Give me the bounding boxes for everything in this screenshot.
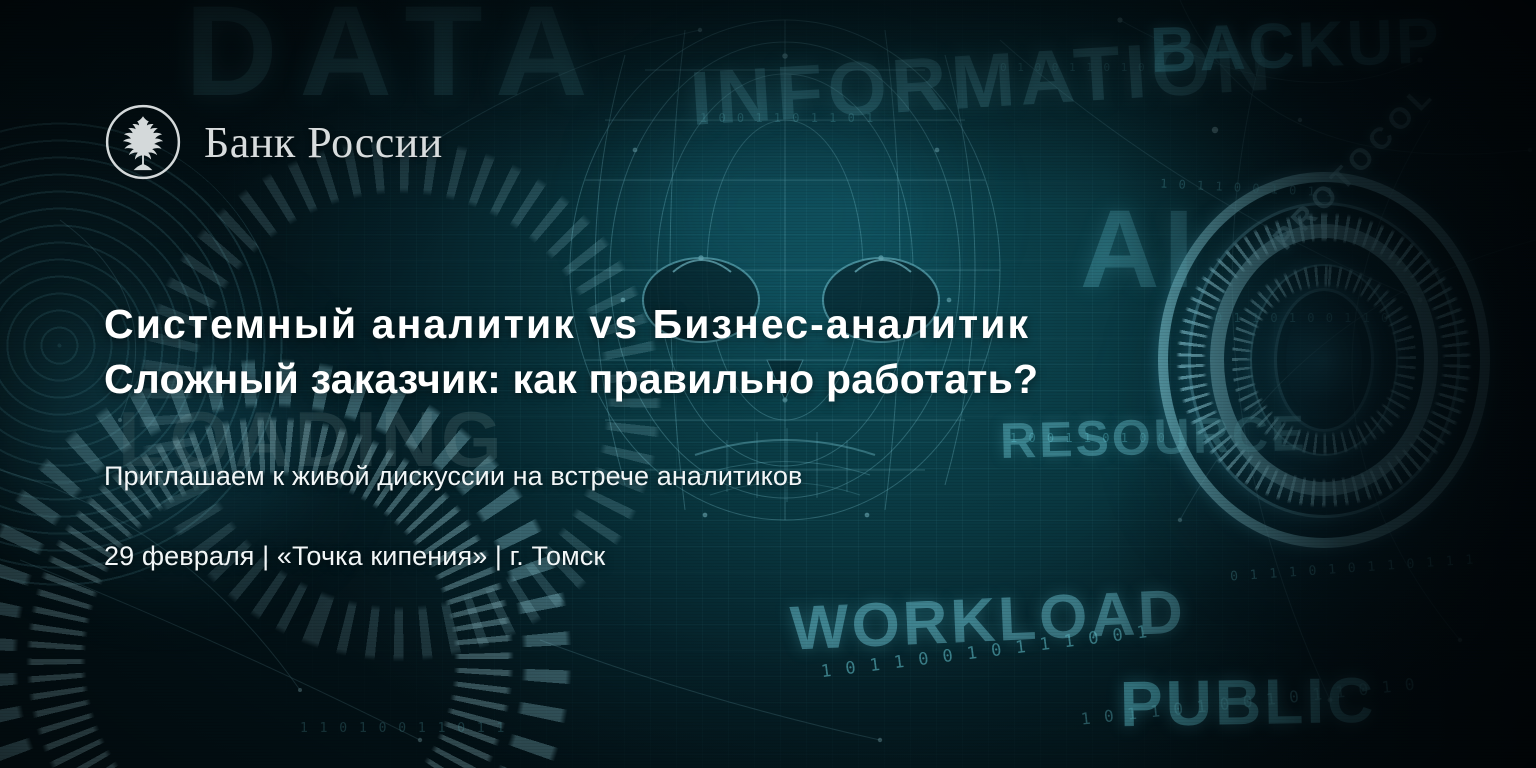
brand-lockup: Банк России: [104, 103, 443, 181]
double-headed-eagle-icon: [104, 103, 182, 181]
event-banner: DATA INFORMATION BACKUP AI RESOURCE LOAD…: [0, 0, 1536, 768]
headline-line-1: Системный аналитик vs Бизнес-аналитик: [104, 297, 1038, 352]
brand-name: Банк России: [204, 117, 443, 168]
banner-content: Банк России Системный аналитик vs Бизнес…: [0, 0, 1536, 768]
subtitle-text: Приглашаем к живой дискуссии на встрече …: [104, 461, 802, 492]
page-title: Системный аналитик vs Бизнес-аналитик Сл…: [104, 297, 1038, 406]
event-meta-text: 29 февраля | «Точка кипения» | г. Томск: [104, 541, 605, 572]
headline-line-2: Сложный заказчик: как правильно работать…: [104, 352, 1038, 407]
